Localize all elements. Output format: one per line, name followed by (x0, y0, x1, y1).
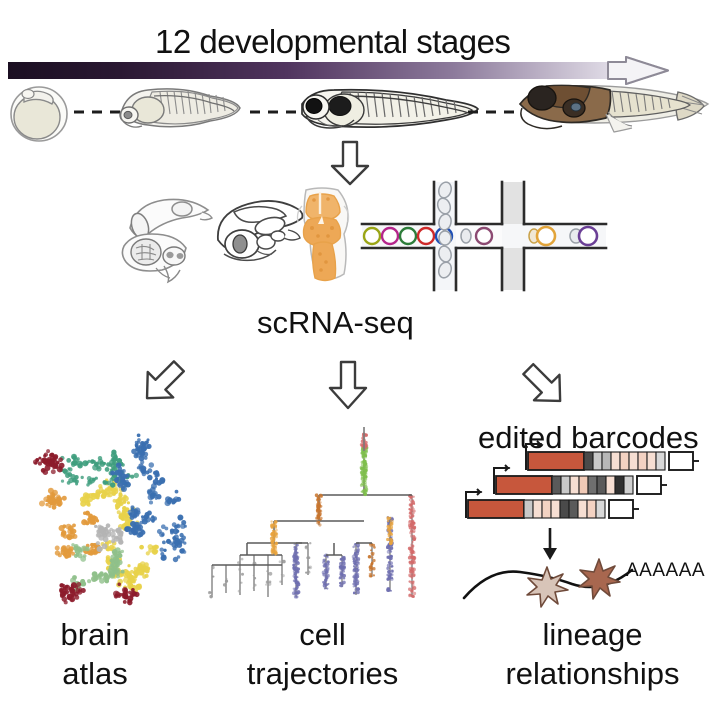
caption-brain-atlas: brain atlas (10, 616, 180, 694)
arrow-down-to-dissection (328, 140, 372, 186)
embryo-stage (6, 84, 70, 142)
caption-brain-atlas-line1: brain (10, 616, 180, 655)
caption-cell-trajectories: cell trajectories (215, 616, 430, 694)
juvenile-fish-stage (512, 78, 718, 140)
caption-lineage-relationships: lineage relationships (470, 616, 715, 694)
stage-connector-dashes-2 (248, 108, 300, 116)
arrow-down-left-to-atlas (136, 358, 192, 410)
barcode-constructs (462, 448, 718, 528)
caption-lineage-relationships-line1: lineage (470, 616, 715, 655)
arrow-down-right-to-lineage (518, 358, 574, 410)
pipeline-label: scRNA-seq (257, 305, 414, 341)
caption-cell-trajectories-line2: trajectories (215, 655, 430, 694)
edited-site-star-2 (579, 559, 620, 599)
cell-trajectory-dendrogram (204, 425, 436, 605)
caption-cell-trajectories-line1: cell (215, 616, 430, 655)
droplet-microfluidics-chip (362, 182, 606, 290)
brain-atlas-tsne (8, 420, 198, 605)
polyA-tail-label: AAAAAA (626, 560, 705, 582)
stage-connector-dashes-3 (466, 108, 518, 116)
early-larva-stage (112, 82, 244, 138)
brain-sketch-lateral-early (118, 190, 218, 282)
brain-sketch-dorsal (284, 186, 362, 286)
late-larva-stage (296, 82, 482, 140)
caption-brain-atlas-line2: atlas (10, 655, 180, 694)
caption-lineage-relationships-line2: relationships (470, 655, 715, 694)
arrow-down-to-trajectories (326, 360, 370, 410)
figure-root: 12 developmental stages (0, 0, 720, 720)
